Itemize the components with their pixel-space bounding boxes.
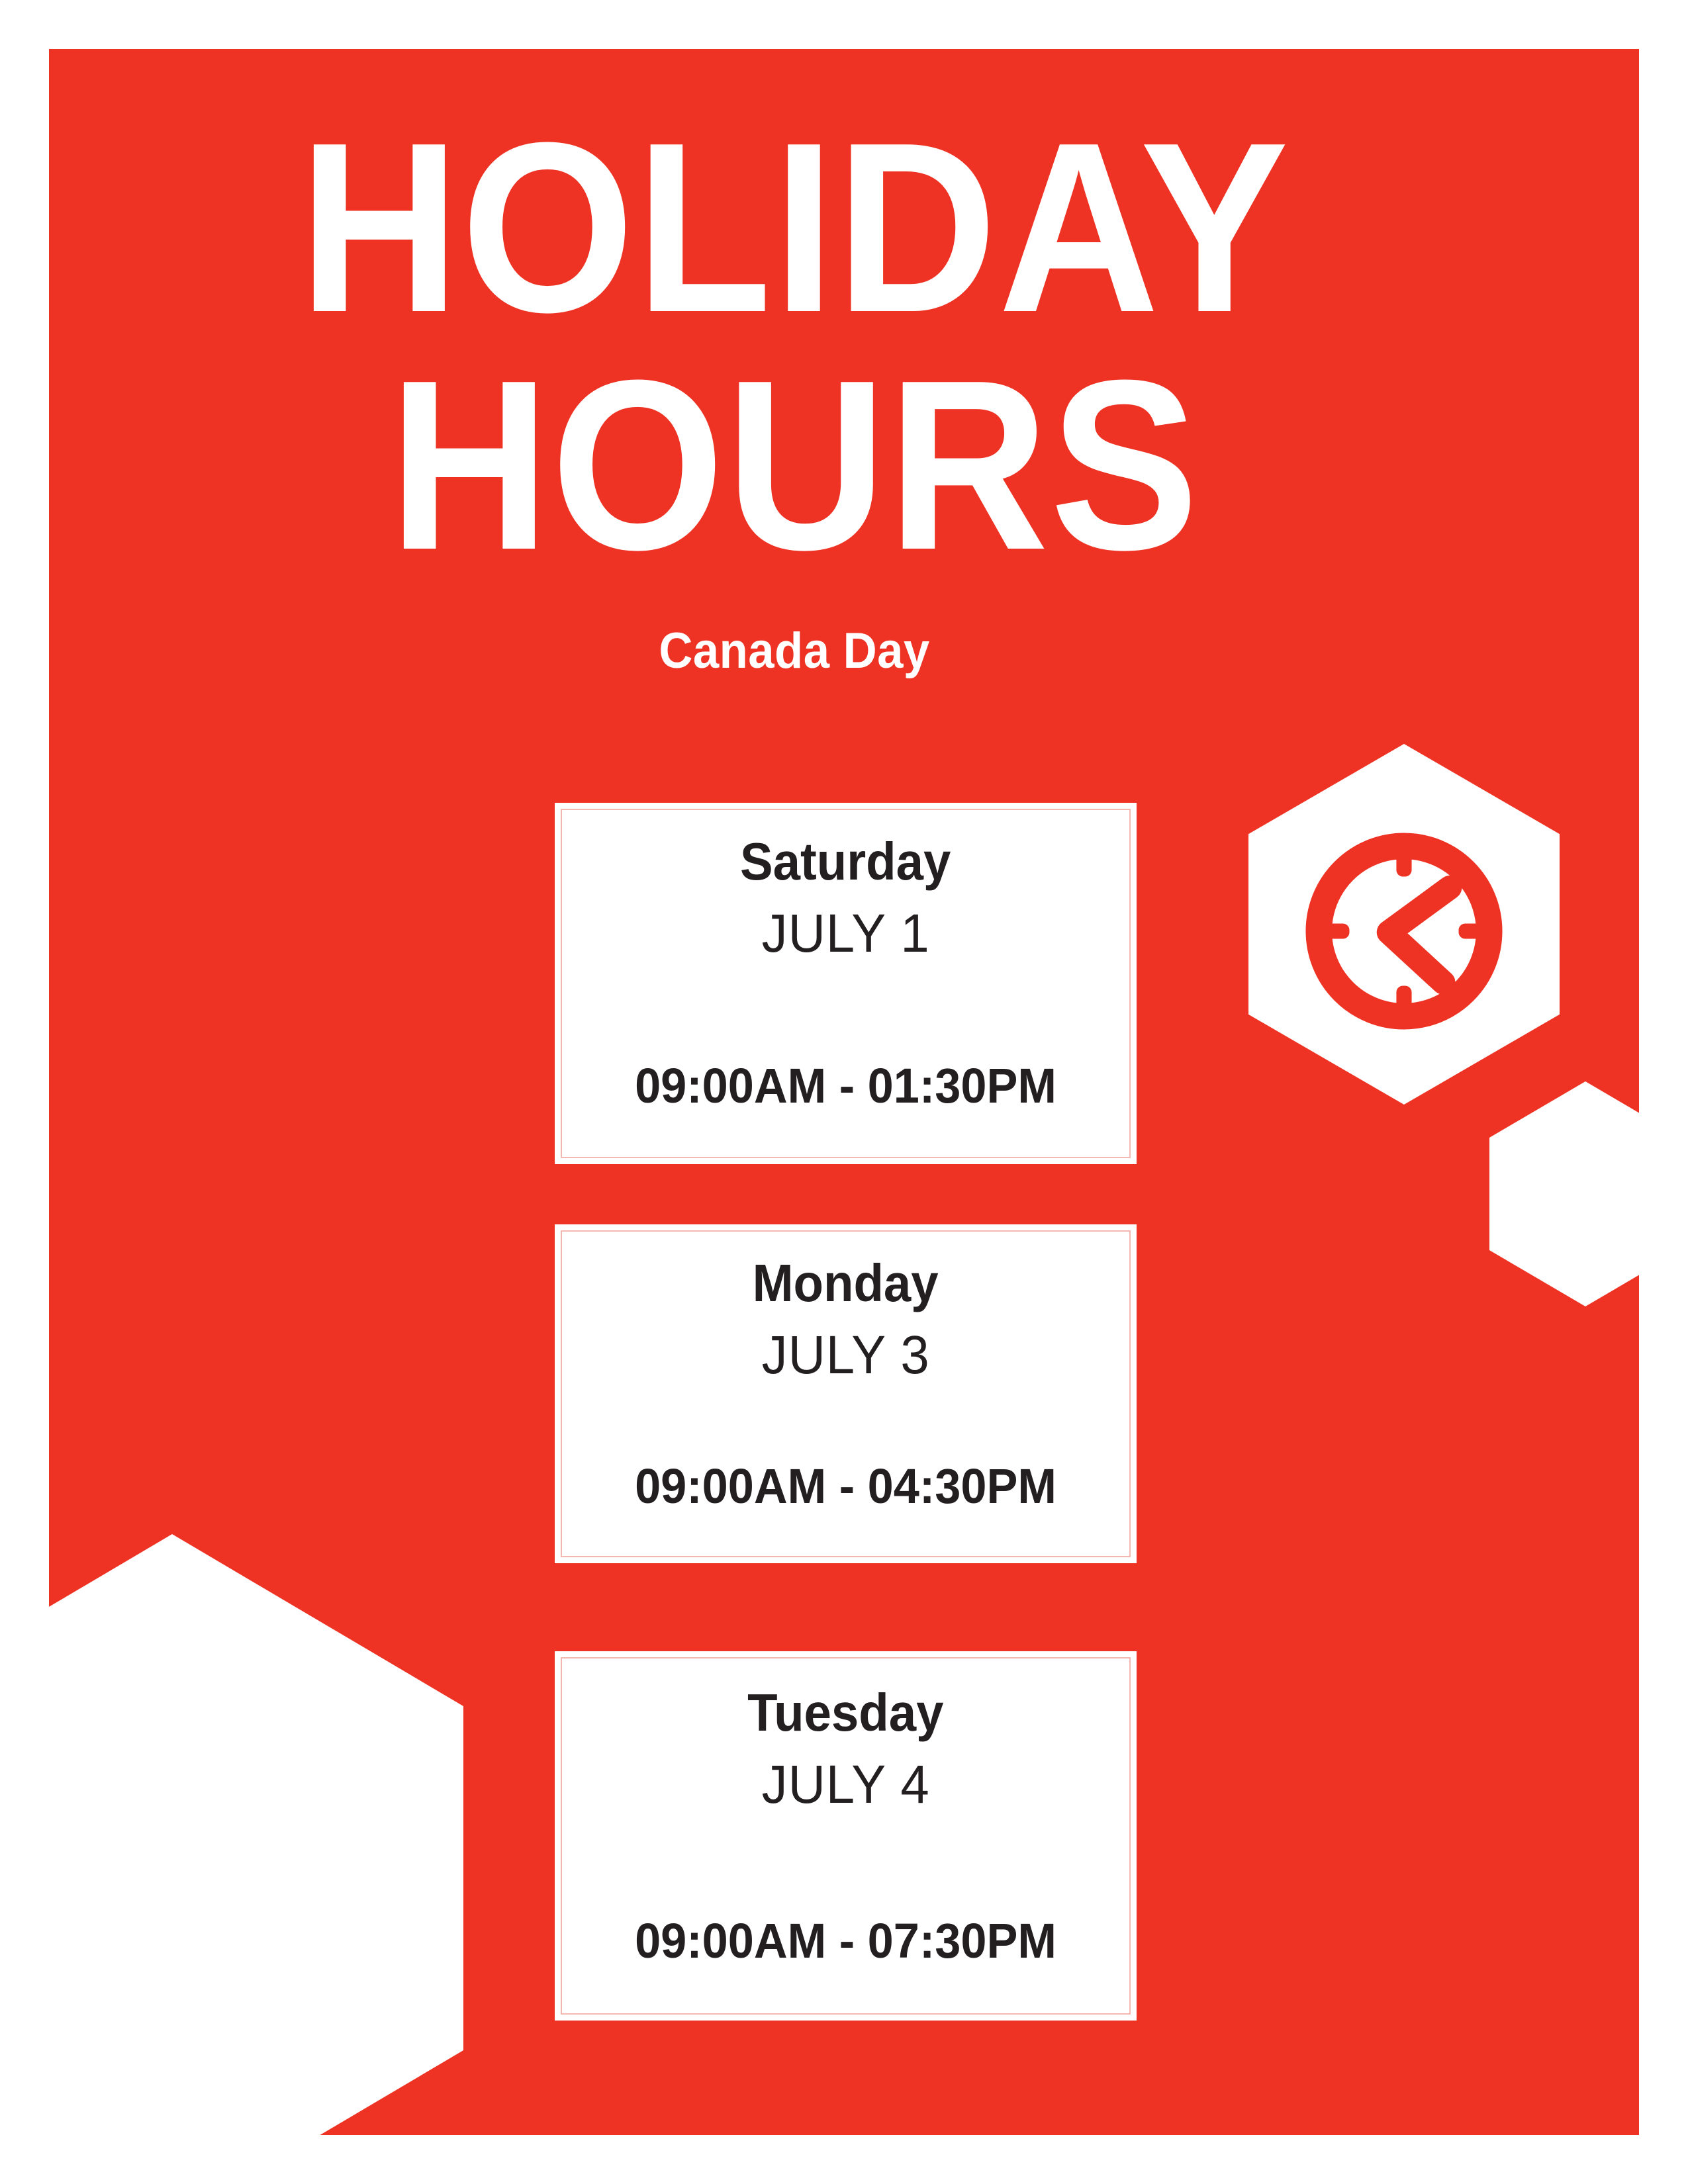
hexagon-decor-icon [49,1534,463,2135]
schedule-card-frame: Saturday JULY 1 09:00AM - 01:30PM [561,809,1131,1158]
schedule-card-frame: Tuesday JULY 4 09:00AM - 07:30PM [561,1657,1131,2015]
clock-badge [1248,744,1560,1105]
schedule-day-name: Monday [753,1257,939,1310]
schedule-day-date: JULY 1 [762,907,930,961]
hexagon-decor-icon [1489,1081,1639,1306]
schedule-day-hours: 09:00AM - 04:30PM [576,1462,1115,1511]
schedule-day-hours: 09:00AM - 07:30PM [576,1917,1115,1966]
schedule-card-frame: Monday JULY 3 09:00AM - 04:30PM [561,1230,1131,1557]
schedule-day-date: JULY 4 [762,1758,930,1812]
page-title: HOLIDAY HOURS [159,109,1430,584]
holiday-hours-poster: HOLIDAY HOURS Canada Day Saturday JULY 1… [0,0,1688,2184]
poster-subtitle: Canada Day [203,622,1385,680]
poster-background-panel: HOLIDAY HOURS Canada Day Saturday JULY 1… [49,49,1639,2135]
schedule-card: Monday JULY 3 09:00AM - 04:30PM [555,1224,1137,1563]
title-line-1: HOLIDAY [210,109,1379,347]
schedule-day-date: JULY 3 [762,1328,930,1383]
schedule-day-name: Saturday [740,835,951,888]
clock-icon [1288,822,1520,1040]
schedule-card: Saturday JULY 1 09:00AM - 01:30PM [555,803,1137,1164]
schedule-card: Tuesday JULY 4 09:00AM - 07:30PM [555,1651,1137,2021]
title-line-2: HOURS [210,347,1379,584]
schedule-day-name: Tuesday [747,1686,943,1739]
schedule-day-hours: 09:00AM - 01:30PM [576,1062,1115,1111]
